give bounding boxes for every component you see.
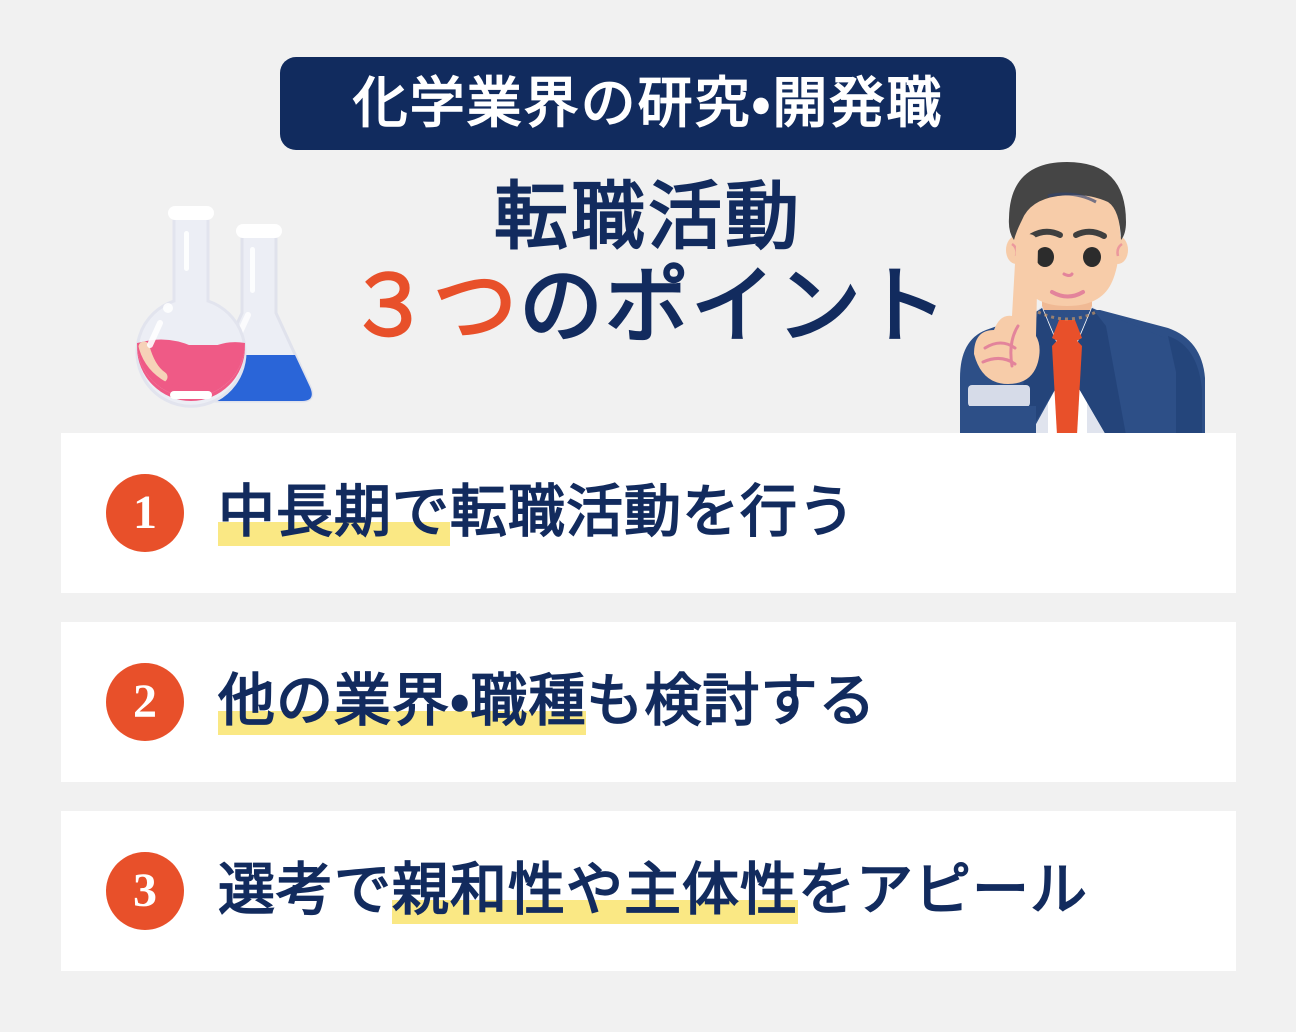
point-highlight-1: 中長期で [218,480,450,546]
point-rest-2: も検討する [586,669,876,733]
point-rest-3: をアピール [798,858,1088,922]
round-bottom-flask-icon [132,206,252,406]
point-text-1: 中長期で転職活動を行う [218,480,856,546]
header-badge-label: 化学業界の研究・開発職 [353,76,944,131]
point-number-badge-1: 1 [106,474,184,552]
point-prefix-3: 選考で [218,858,392,922]
infographic-canvas: 化学業界の研究・開発職 [0,0,1296,1032]
point-card-2: 2 他の業界・職種も検討する [61,622,1236,782]
point-text-3: 選考で親和性や主体性をアピール [218,858,1088,924]
header-badge: 化学業界の研究・開発職 [280,57,1016,150]
point-card-3: 3 選考で親和性や主体性をアピール [61,811,1236,971]
left-eye [1036,247,1054,267]
suit-sleeve [964,406,1036,435]
businessman-illustration [930,140,1215,435]
title-line-2-rest: のポイント [519,259,949,353]
right-eye [1083,247,1101,267]
title-accent-number: ３つ [347,259,519,353]
point-number-badge-2: 2 [106,663,184,741]
pointing-hand [964,234,1040,435]
point-highlight-3: 親和性や主体性 [392,858,798,924]
point-highlight-2: 他の業界・職種 [218,669,586,735]
point-text-2: 他の業界・職種も検討する [218,669,876,735]
point-number-badge-3: 3 [106,852,184,930]
chemistry-flasks-illustration [124,195,344,425]
shirt-cuff [968,385,1030,407]
point-card-1: 1 中長期で転職活動を行う [61,433,1236,593]
point-rest-1: 転職活動を行う [450,480,856,544]
